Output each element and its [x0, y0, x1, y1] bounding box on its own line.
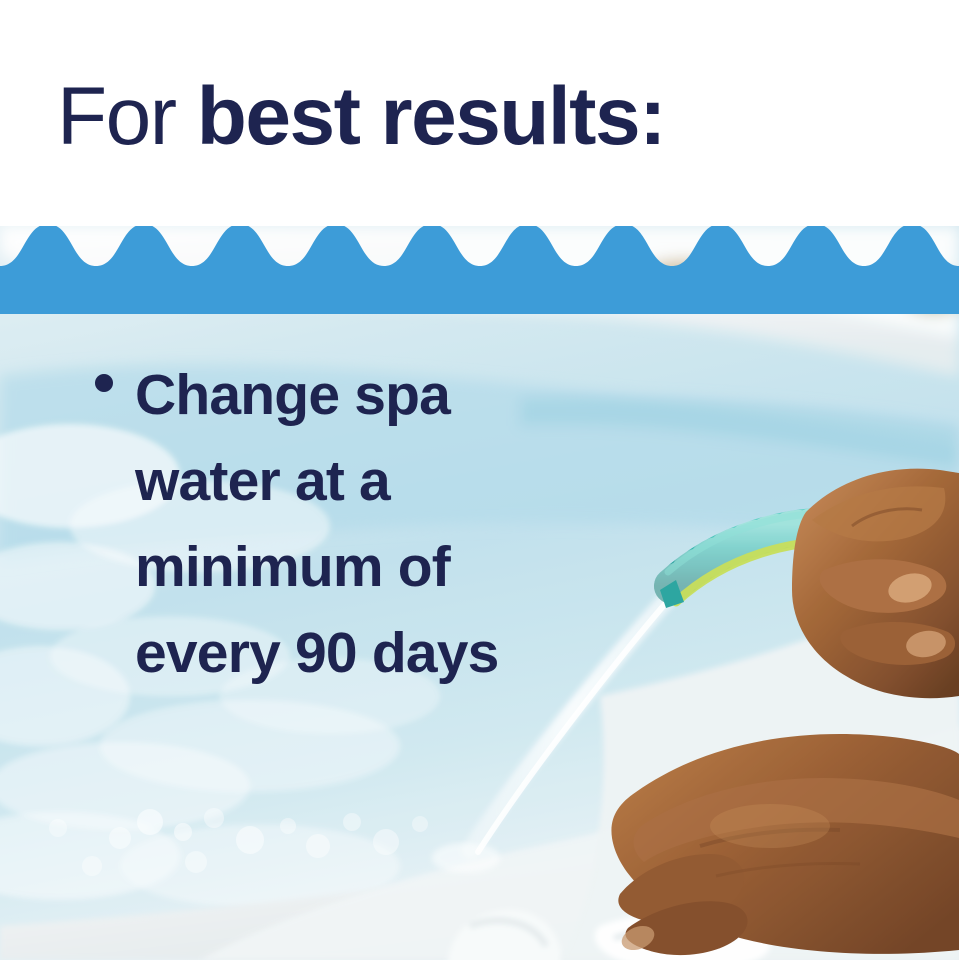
- bullet-list: Change spa water at a minimum of every 9…: [92, 352, 562, 696]
- promo-card: For best results:: [0, 0, 959, 960]
- page-title: For best results:: [57, 76, 665, 158]
- headline-light-part: For: [57, 71, 197, 162]
- bullet-dot-icon: [95, 374, 113, 392]
- list-item: Change spa water at a minimum of every 9…: [92, 352, 562, 696]
- headline-bold-part: best results:: [197, 71, 665, 162]
- header-band: For best results:: [0, 0, 959, 226]
- bullet-item-label: Change spa water at a minimum of every 9…: [135, 352, 562, 696]
